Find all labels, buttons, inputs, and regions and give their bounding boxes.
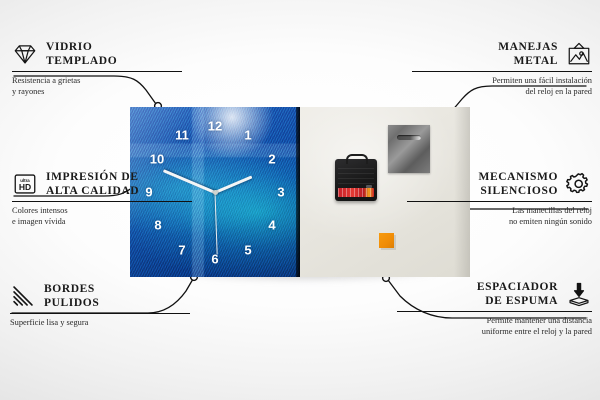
product-infographic: 12 1 2 3 4 5 6 7 8 9 10 11	[0, 0, 600, 400]
metal-hanger-plate	[388, 125, 430, 173]
picture-frame-hanger-icon	[566, 41, 592, 67]
callout-desc-line: Permiten una fácil instalación	[412, 75, 592, 86]
callout-rule	[12, 71, 182, 72]
clock-numeral: 5	[244, 244, 251, 257]
callout-espaciador-espuma: ESPACIADOR DE ESPUMA Permite mantener un…	[397, 280, 592, 338]
callout-rule	[12, 201, 192, 202]
clock-numeral: 6	[211, 253, 218, 266]
callout-title: IMPRESIÓN DE ALTA CALIDAD	[46, 170, 139, 198]
callout-title: VIDRIO TEMPLADO	[46, 40, 117, 68]
callout-title: ESPACIADOR DE ESPUMA	[477, 280, 558, 308]
callout-header: VIDRIO TEMPLADO	[12, 40, 182, 68]
clock-numeral: 1	[244, 129, 251, 142]
callout-header: ultra HD IMPRESIÓN DE ALTA CALIDAD	[12, 170, 192, 198]
callout-title: MANEJAS METAL	[498, 40, 558, 68]
ultra-hd-icon: ultra HD	[12, 171, 38, 197]
callout-desc-line: del reloj en la pared	[412, 86, 592, 97]
callout-bordes-pulidos: BORDES PULIDOS Superficie lisa y segura	[10, 282, 190, 328]
clock-numeral: 12	[208, 120, 222, 133]
callout-desc-line: no emiten ningún sonido	[407, 216, 592, 227]
arrow-onto-pad-icon	[566, 281, 592, 307]
callout-impresion-alta-calidad: ultra HD IMPRESIÓN DE ALTA CALIDAD Color…	[12, 170, 192, 228]
callout-mecanismo-silencioso: MECANISMO SILENCIOSO Las manecillas del …	[407, 170, 592, 228]
mechanism-hook	[346, 154, 368, 164]
callout-title: MECANISMO SILENCIOSO	[478, 170, 558, 198]
foam-spacer	[379, 233, 394, 248]
callout-manejas-metal: MANEJAS METAL Permiten una fácil instala…	[412, 40, 592, 98]
clock-numeral: 10	[150, 153, 164, 166]
callout-header: ESPACIADOR DE ESPUMA	[397, 280, 592, 308]
callout-header: MANEJAS METAL	[412, 40, 592, 68]
callout-desc-line: Resistencia a grietas	[12, 75, 182, 86]
battery	[338, 188, 374, 197]
callout-desc-line: Las manecillas del reloj	[407, 205, 592, 216]
clock-numeral: 7	[178, 244, 185, 257]
callout-title: BORDES PULIDOS	[44, 282, 99, 310]
clock-mechanism-box	[335, 159, 377, 201]
svg-text:HD: HD	[19, 182, 31, 192]
callout-vidrio-templado: VIDRIO TEMPLADO Resistencia a grietas y …	[12, 40, 182, 98]
clock-numeral: 11	[175, 129, 189, 142]
diamond-icon	[12, 41, 38, 67]
clock-center-pin	[213, 190, 218, 195]
clock-numeral: 2	[268, 153, 275, 166]
callout-desc-line: y rayones	[12, 86, 182, 97]
callout-rule	[407, 201, 592, 202]
callout-desc-line: Colores intensos	[12, 205, 192, 216]
callout-header: BORDES PULIDOS	[10, 282, 190, 310]
clock-numeral: 4	[268, 219, 275, 232]
callout-rule	[412, 71, 592, 72]
callout-header: MECANISMO SILENCIOSO	[407, 170, 592, 198]
mechanism-grooves	[338, 164, 374, 184]
callout-desc-line: e imagen vívida	[12, 216, 192, 227]
callout-desc-line: Superficie lisa y segura	[10, 317, 190, 328]
gear-icon	[566, 171, 592, 197]
hanger-slot	[397, 135, 421, 140]
callout-desc-line: uniforme entre el reloj y la pared	[397, 326, 592, 337]
callout-rule	[397, 311, 592, 312]
diagonal-stripes-icon	[10, 283, 36, 309]
callout-desc-line: Permite mantener una distancia	[397, 315, 592, 326]
clock-numeral: 3	[277, 186, 284, 199]
callout-rule	[10, 313, 190, 314]
